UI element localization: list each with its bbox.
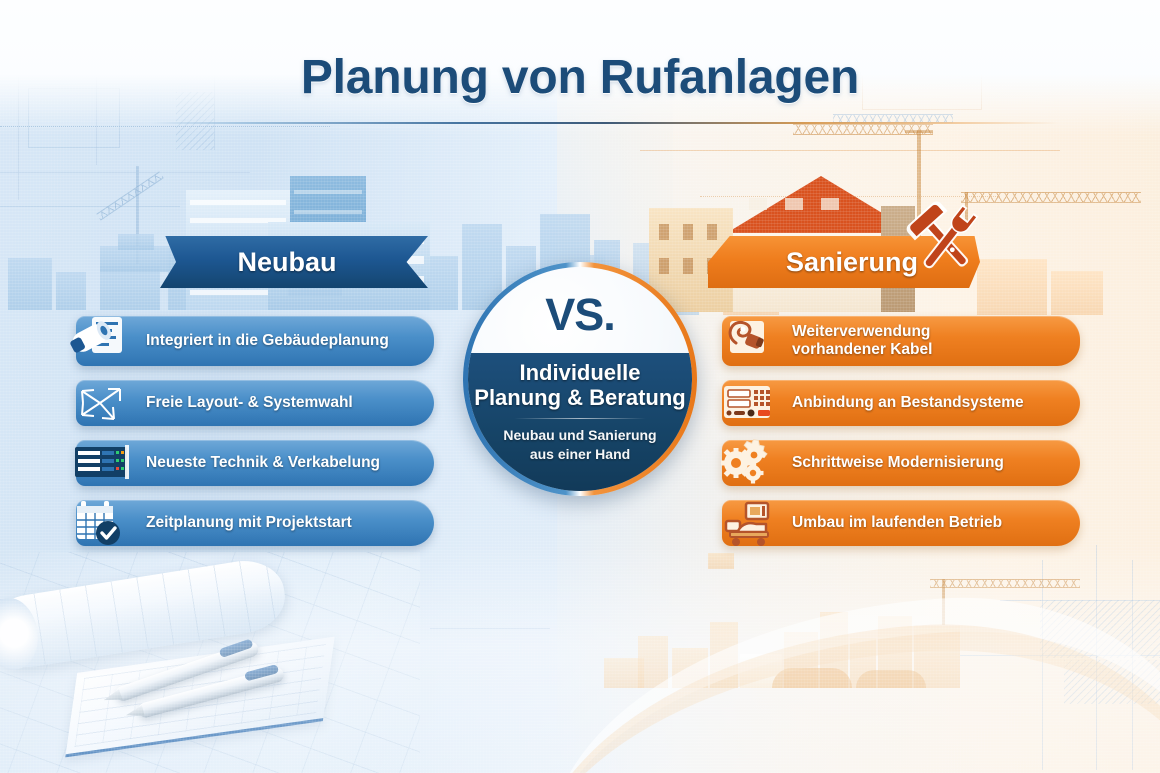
badge-banner: Individuelle Planung & Beratung Neubau u… bbox=[468, 353, 692, 491]
list-item-label: Neueste Technik & Verkabelung bbox=[76, 454, 392, 472]
title-divider bbox=[152, 122, 1058, 124]
neubau-feature-list: Integriert in die Gebäudeplanung Freie L… bbox=[76, 316, 434, 560]
page-title: Planung von Rufanlagen bbox=[0, 50, 1160, 105]
badge-headline-line2: Planung & Beratung bbox=[468, 386, 692, 411]
list-item[interactable]: Schrittweise Modernisierung bbox=[722, 440, 1080, 486]
infographic-canvas: Planung von Rufanlagen Neubau Sanierung bbox=[0, 0, 1160, 773]
hammer-wrench-icon bbox=[900, 196, 992, 288]
badge-separator bbox=[514, 418, 646, 419]
badge-sub-line1: Neubau und Sanierung bbox=[468, 426, 692, 445]
list-item[interactable]: Weiterverwendung vorhandener Kabel bbox=[722, 316, 1080, 366]
banner-sanierung-label: Sanierung bbox=[786, 247, 918, 278]
badge-face: VS. Individuelle Planung & Beratung Neub… bbox=[468, 267, 692, 491]
banner-neubau: Neubau bbox=[160, 236, 428, 288]
list-item[interactable]: Anbindung an Bestandsysteme bbox=[722, 380, 1080, 426]
list-item[interactable]: Umbau im laufenden Betrieb bbox=[722, 500, 1080, 546]
list-item[interactable]: Integriert in die Gebäudeplanung bbox=[76, 316, 434, 366]
list-item[interactable]: Freie Layout- & Systemwahl bbox=[76, 380, 434, 426]
center-vs-badge: VS. Individuelle Planung & Beratung Neub… bbox=[463, 262, 697, 496]
list-item-label: Weiterverwendung vorhandener Kabel bbox=[722, 323, 944, 360]
list-item-label: Freie Layout- & Systemwahl bbox=[76, 394, 365, 412]
list-item-label: Zeitplanung mit Projektstart bbox=[76, 514, 364, 532]
list-item[interactable]: Neueste Technik & Verkabelung bbox=[76, 440, 434, 486]
banner-neubau-label: Neubau bbox=[237, 247, 336, 278]
badge-sub-line2: aus einer Hand bbox=[468, 445, 692, 464]
list-item-label: Anbindung an Bestandsysteme bbox=[722, 394, 1036, 412]
badge-headline-line1: Individuelle bbox=[468, 361, 692, 386]
list-item-label: Integriert in die Gebäudeplanung bbox=[76, 332, 401, 350]
list-item[interactable]: Zeitplanung mit Projektstart bbox=[76, 500, 434, 546]
sanierung-feature-list: Weiterverwendung vorhandener Kabel bbox=[722, 316, 1080, 560]
vs-label: VS. bbox=[468, 289, 692, 341]
list-item-label-line1: Weiterverwendung bbox=[792, 323, 930, 340]
list-item-label-line2: vorhandener Kabel bbox=[792, 341, 932, 358]
list-item-label: Umbau im laufenden Betrieb bbox=[722, 514, 1014, 532]
list-item-label: Schrittweise Modernisierung bbox=[722, 454, 1016, 472]
